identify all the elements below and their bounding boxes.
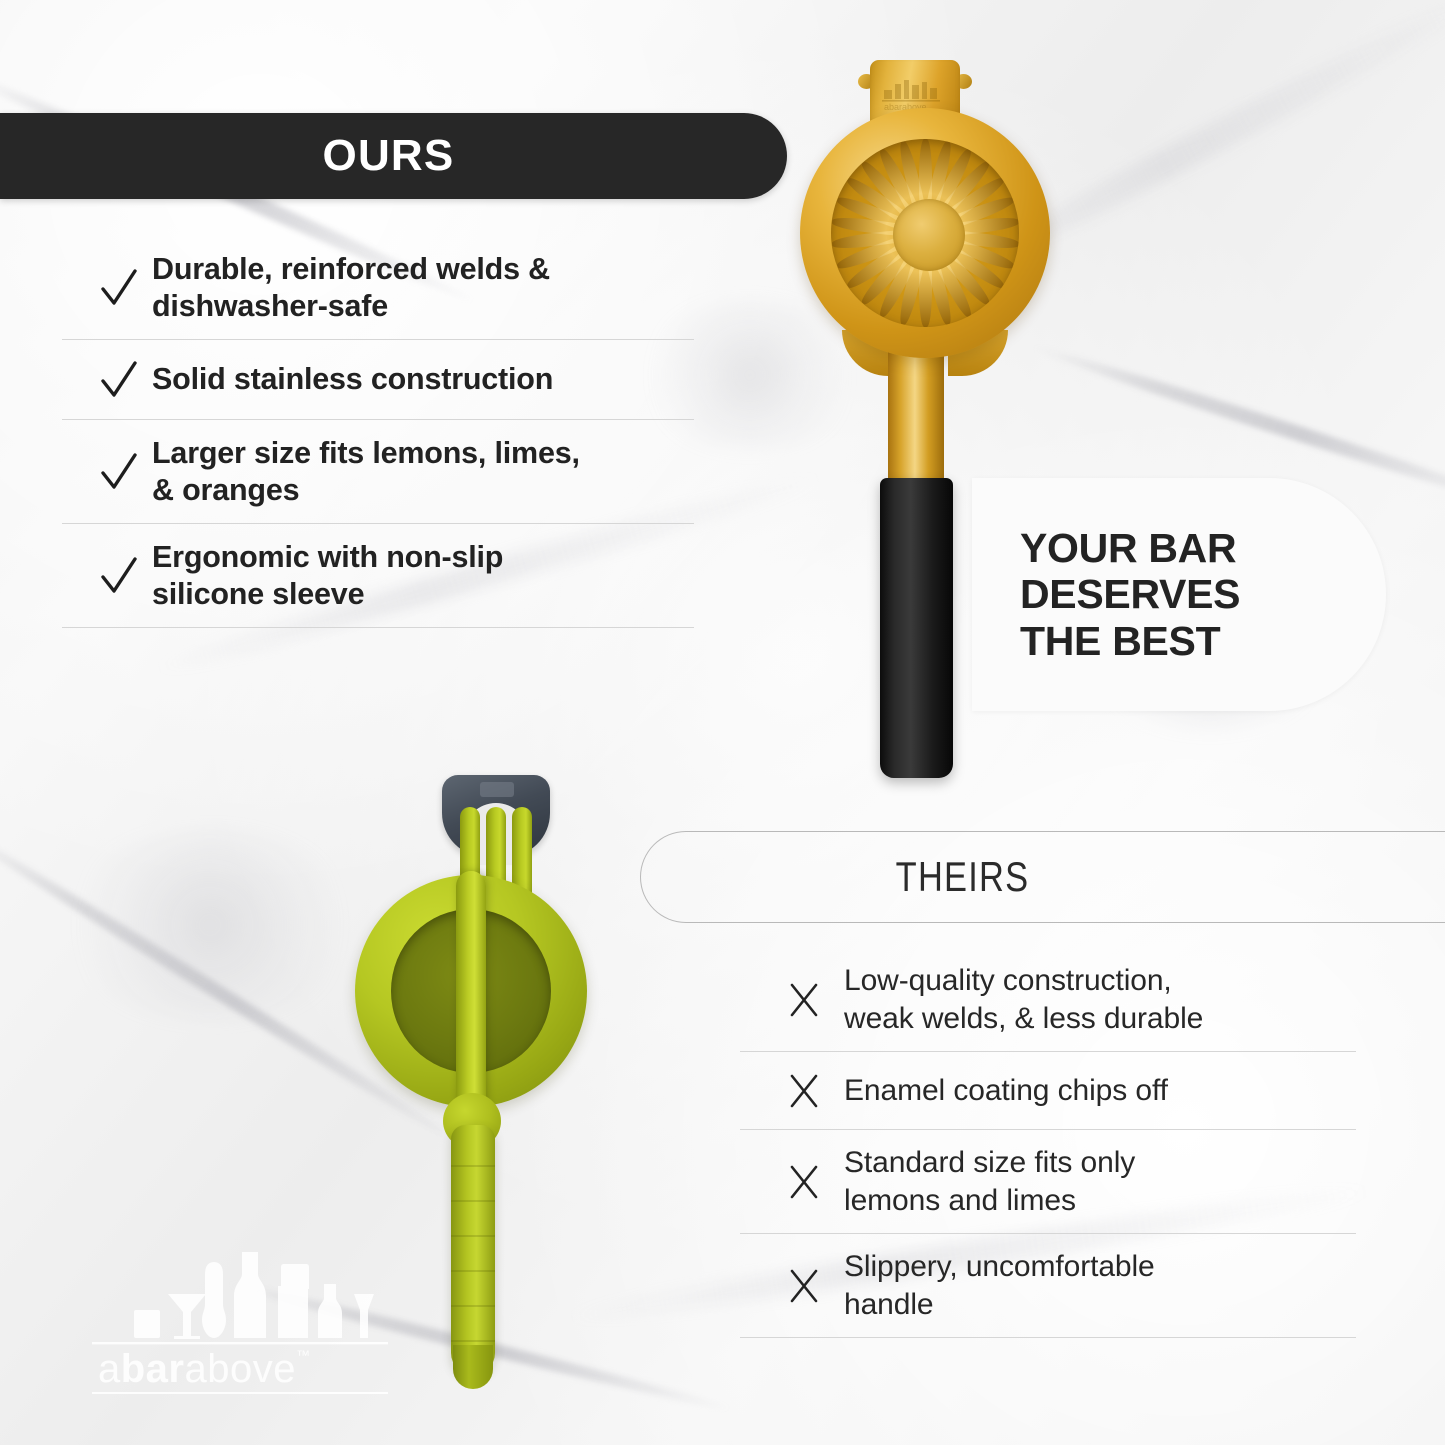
list-item: Low-quality construction, weak welds, & … (740, 948, 1356, 1052)
logo-rule-top (92, 1342, 388, 1344)
engraved-brand-logo-icon: abarabove (878, 76, 952, 112)
squeezer-handle-tip (453, 1345, 493, 1389)
list-item-label: Solid stainless construction (148, 361, 553, 398)
x-icon (776, 1162, 832, 1202)
theirs-header-label: THEIRS (896, 856, 1030, 898)
check-icon (90, 266, 148, 310)
x-icon (776, 1266, 832, 1306)
callout-line-2: DESERVES (1020, 571, 1386, 617)
list-item-label: Durable, reinforced welds & dishwasher-s… (148, 251, 550, 324)
hinge-brand-mark-icon (480, 782, 514, 797)
ours-header-label: OURS (323, 134, 465, 178)
squeezer-neck (888, 340, 944, 488)
theirs-header-bar: THEIRS (640, 831, 1445, 923)
list-item-label: Low-quality construction, weak welds, & … (832, 962, 1203, 1036)
list-item-label: Slippery, uncomfortable handle (832, 1248, 1155, 1322)
barware-silhouettes-icon (134, 1252, 374, 1339)
list-item-label: Standard size fits only lemons and limes (832, 1144, 1135, 1218)
list-item: Slippery, uncomfortable handle (740, 1234, 1356, 1338)
green-citrus-squeezer-image (355, 775, 635, 1385)
list-item: Durable, reinforced welds & dishwasher-s… (62, 236, 694, 340)
logo-rule-bottom (92, 1392, 388, 1394)
list-item: Ergonomic with non-slip silicone sleeve (62, 524, 694, 628)
marble-blotch (60, 830, 360, 1020)
list-item: Solid stainless construction (62, 340, 694, 420)
abarabove-logo: abarabove™ (92, 1248, 388, 1398)
logo-wordmark: abarabove™ (98, 1347, 310, 1391)
list-item-label: Ergonomic with non-slip silicone sleeve (148, 539, 503, 612)
list-item: Enamel coating chips off (740, 1052, 1356, 1130)
squeezer-handle (451, 1125, 495, 1375)
x-icon (776, 980, 832, 1020)
list-item: Larger size fits lemons, limes, & orange… (62, 420, 694, 524)
theirs-drawback-list: Low-quality construction, weak welds, & … (740, 948, 1356, 1338)
list-item-label: Larger size fits lemons, limes, & orange… (148, 435, 580, 508)
black-silicone-sleeve (880, 478, 953, 778)
list-item-label: Enamel coating chips off (832, 1072, 1168, 1109)
squeezer-bowl-inner (831, 139, 1019, 327)
squeezer-bowl (800, 108, 1050, 358)
check-icon (90, 358, 148, 402)
check-icon (90, 554, 148, 598)
ours-feature-list: Durable, reinforced welds & dishwasher-s… (62, 236, 694, 628)
squeezer-bowl-center-disc (893, 199, 965, 271)
check-icon (90, 450, 148, 494)
list-item: Standard size fits only lemons and limes (740, 1130, 1356, 1234)
ours-header-bar: OURS (0, 113, 787, 199)
squeezer-top-lever (456, 871, 486, 1121)
infographic-canvas: OURS Durable, reinforced welds & dishwas… (0, 0, 1445, 1445)
callout-line-3: THE BEST (1020, 618, 1386, 664)
callout-line-1: YOUR BAR (1020, 525, 1386, 571)
x-icon (776, 1071, 832, 1111)
your-bar-deserves-the-best-callout: YOUR BAR DESERVES THE BEST (972, 478, 1386, 711)
